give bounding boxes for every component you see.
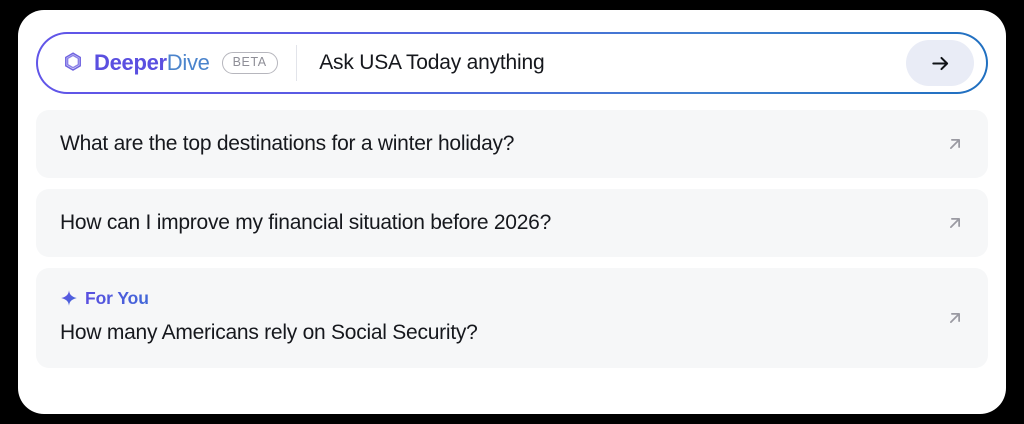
suggestion-row-2[interactable]: How can I improve my financial situation… — [36, 189, 988, 257]
for-you-tag: For You — [60, 288, 930, 309]
suggestion-row-3[interactable]: For You How many Americans rely on Socia… — [36, 268, 988, 368]
search-input[interactable] — [319, 51, 906, 75]
brand-name: DeeperDive — [94, 50, 210, 76]
arrow-up-right-icon[interactable] — [944, 133, 966, 155]
search-bar: DeeperDive BETA — [38, 34, 986, 92]
suggestion-text: What are the top destinations for a wint… — [60, 131, 930, 157]
suggestion-list: What are the top destinations for a wint… — [36, 110, 988, 368]
submit-button[interactable] — [906, 40, 974, 86]
brand-input-divider — [296, 45, 298, 81]
search-bar-container: DeeperDive BETA — [36, 32, 988, 94]
suggestion-text: How can I improve my financial situation… — [60, 210, 930, 236]
suggestion-text: How many Americans rely on Social Securi… — [60, 320, 930, 346]
arrow-up-right-icon[interactable] — [944, 307, 966, 329]
arrow-up-right-icon[interactable] — [944, 212, 966, 234]
suggestion-row-1[interactable]: What are the top destinations for a wint… — [36, 110, 988, 178]
brand-lockup: DeeperDive BETA — [61, 50, 278, 76]
hexagon-ring-icon — [61, 51, 85, 75]
brand-name-light: Dive — [167, 50, 210, 75]
beta-badge: BETA — [222, 52, 278, 74]
sparkle-icon — [60, 289, 78, 307]
deeperdive-card: DeeperDive BETA What are th — [18, 10, 1006, 414]
screen-root: DeeperDive BETA What are th — [0, 0, 1024, 424]
for-you-label: For You — [85, 288, 149, 309]
arrow-right-icon — [929, 52, 952, 75]
brand-name-bold: Deeper — [94, 50, 167, 75]
